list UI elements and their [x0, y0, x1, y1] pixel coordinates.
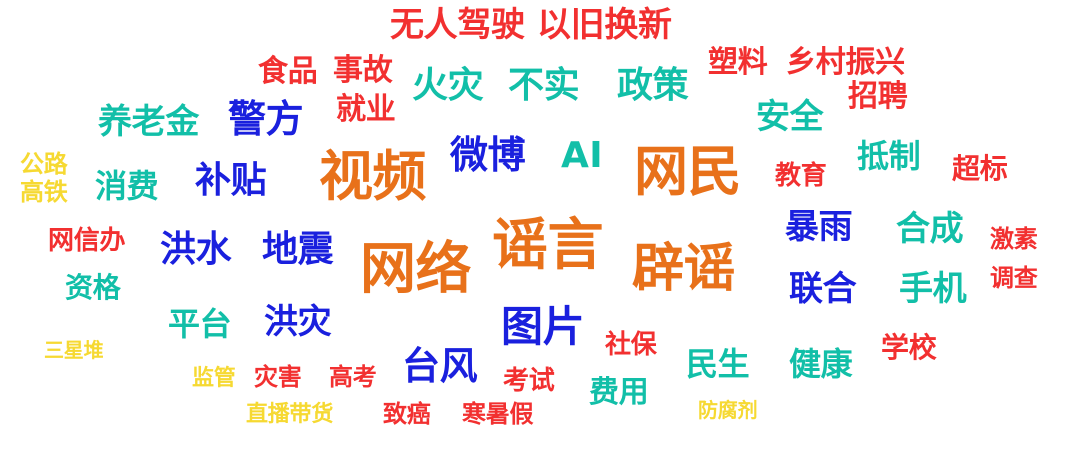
cloud-word[interactable]: 公路: [20, 152, 68, 176]
cloud-word[interactable]: 网民: [634, 145, 741, 199]
cloud-word[interactable]: 消费: [95, 170, 158, 202]
cloud-word[interactable]: 学校: [881, 334, 936, 362]
cloud-word[interactable]: 激素: [990, 227, 1038, 251]
cloud-word[interactable]: 洪灾: [264, 305, 331, 339]
cloud-word[interactable]: 火灾: [412, 68, 483, 104]
cloud-word[interactable]: 就业: [336, 95, 395, 125]
cloud-word[interactable]: 防腐剂: [698, 400, 757, 420]
cloud-word[interactable]: 地震: [262, 232, 333, 268]
cloud-word[interactable]: 食品: [258, 57, 317, 87]
cloud-word[interactable]: 谣言: [492, 218, 603, 274]
cloud-word[interactable]: 网信办: [48, 228, 125, 254]
cloud-word[interactable]: 高铁: [20, 180, 68, 204]
cloud-word[interactable]: 网络: [360, 242, 471, 298]
cloud-word[interactable]: 寒暑假: [462, 402, 533, 426]
cloud-word[interactable]: 致癌: [383, 402, 431, 426]
cloud-word[interactable]: 以旧换新: [537, 8, 672, 42]
cloud-word[interactable]: 辟谣: [632, 243, 735, 295]
cloud-word[interactable]: 教育: [775, 163, 826, 189]
cloud-word[interactable]: 社保: [605, 332, 656, 358]
cloud-word[interactable]: 台风: [402, 347, 477, 385]
cloud-word[interactable]: 超标: [952, 155, 1007, 183]
cloud-word[interactable]: 警方: [228, 100, 303, 138]
cloud-word[interactable]: 图片: [501, 306, 584, 348]
cloud-word[interactable]: 洪水: [160, 232, 231, 268]
cloud-word[interactable]: 补贴: [195, 163, 266, 199]
cloud-word[interactable]: 健康: [789, 348, 852, 380]
cloud-word[interactable]: AI: [561, 138, 603, 174]
cloud-word[interactable]: 灾害: [254, 365, 302, 389]
cloud-word[interactable]: 塑料: [708, 48, 767, 78]
cloud-word[interactable]: 安全: [756, 100, 823, 134]
cloud-word[interactable]: 养老金: [98, 105, 199, 139]
cloud-word[interactable]: 三星堆: [44, 340, 103, 360]
cloud-word[interactable]: 考试: [503, 368, 554, 394]
cloud-word[interactable]: 调查: [990, 266, 1038, 290]
cloud-word[interactable]: 视频: [319, 150, 426, 204]
cloud-word[interactable]: 招聘: [848, 82, 907, 112]
cloud-word[interactable]: 监管: [192, 368, 236, 390]
cloud-word[interactable]: 事故: [333, 56, 392, 86]
cloud-word[interactable]: 乡村振兴: [786, 48, 905, 78]
word-cloud-canvas: 无人驾驶以旧换新食品事故塑料乡村振兴火灾不实政策招聘养老金警方就业安全微博AI抵…: [0, 0, 1066, 465]
cloud-word[interactable]: 不实: [508, 68, 579, 104]
cloud-word[interactable]: 费用: [589, 378, 648, 408]
cloud-word[interactable]: 手机: [899, 272, 966, 306]
cloud-word[interactable]: 平台: [168, 308, 231, 340]
cloud-word[interactable]: 合成: [896, 212, 963, 246]
cloud-word[interactable]: 民生: [686, 348, 749, 380]
cloud-word[interactable]: 微博: [450, 136, 525, 174]
cloud-word[interactable]: 抵制: [857, 140, 920, 172]
cloud-word[interactable]: 高考: [329, 365, 377, 389]
cloud-word[interactable]: 暴雨: [785, 210, 852, 244]
cloud-word[interactable]: 政策: [617, 68, 688, 104]
cloud-word[interactable]: 资格: [65, 274, 120, 302]
cloud-word[interactable]: 直播带货: [246, 404, 333, 426]
cloud-word[interactable]: 联合: [789, 272, 856, 306]
cloud-word[interactable]: 无人驾驶: [390, 8, 525, 42]
